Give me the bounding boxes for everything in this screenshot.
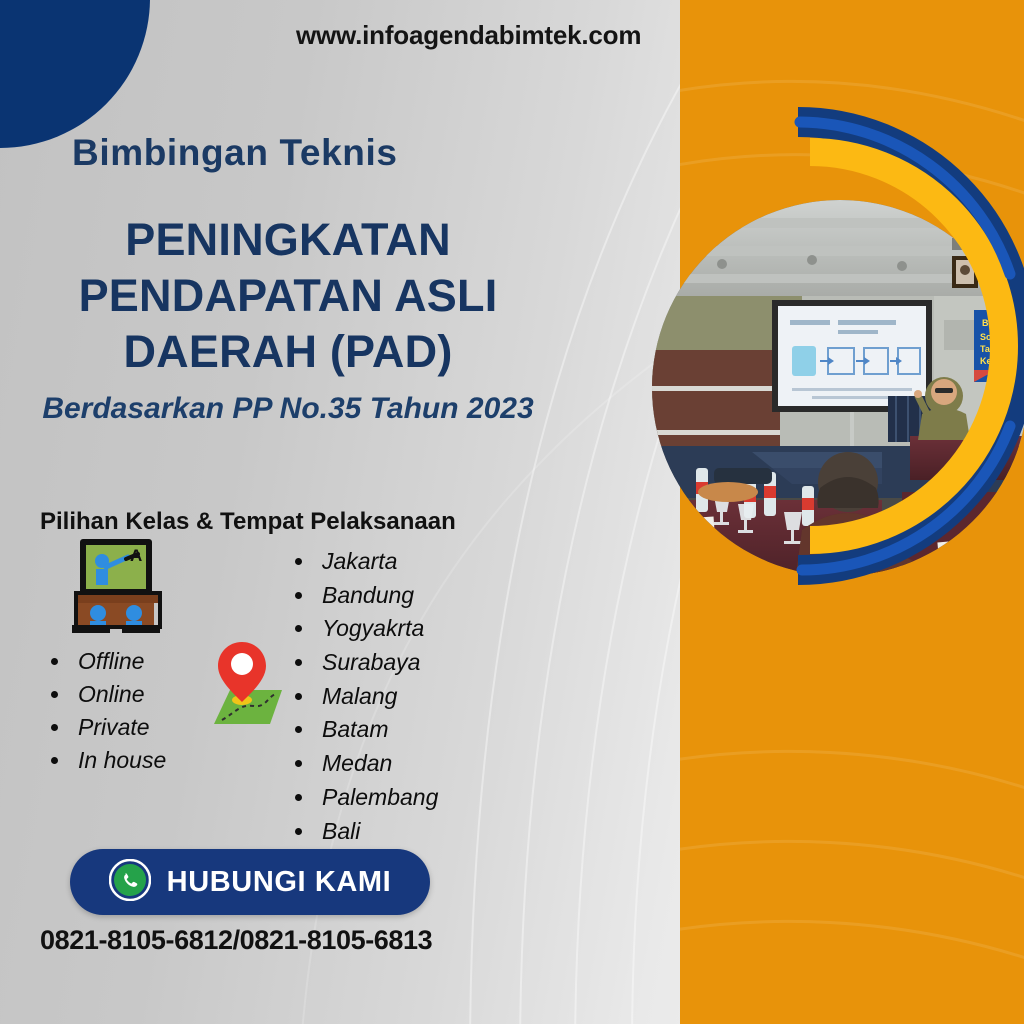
- contact-button[interactable]: HUBUNGI KAMI: [70, 849, 430, 915]
- list-item: Medan: [316, 747, 438, 781]
- list-item: Malang: [316, 680, 438, 714]
- list-item: Online: [72, 678, 166, 711]
- map-pin-icon: [196, 632, 292, 733]
- list-item: Bandung: [316, 579, 438, 613]
- title-line-3: DAERAH (PAD): [0, 324, 576, 380]
- list-item: Yogyakrta: [316, 612, 438, 646]
- title-line-2: PENDAPATAN ASLI: [0, 268, 576, 324]
- whatsapp-icon: [109, 859, 151, 906]
- list-item: Surabaya: [316, 646, 438, 680]
- page-subtitle: Berdasarkan PP No.35 Tahun 2023: [0, 392, 576, 426]
- list-item: Palembang: [316, 781, 438, 815]
- list-item: In house: [72, 744, 166, 777]
- city-list: Jakarta Bandung Yogyakrta Surabaya Malan…: [288, 545, 438, 882]
- photo-frame: BIMB Sosial Tahun Kenaik: [548, 96, 1024, 596]
- list-item: Offline: [72, 645, 166, 678]
- page-title: PENINGKATAN PENDAPATAN ASLI DAERAH (PAD): [0, 212, 576, 379]
- corner-decoration-navy: [0, 0, 150, 148]
- eyebrow-heading: Bimbingan Teknis: [72, 132, 398, 174]
- mode-list: Offline Online Private In house: [44, 645, 166, 777]
- contact-button-label: HUBUNGI KAMI: [167, 866, 392, 899]
- list-item: Private: [72, 711, 166, 744]
- svg-text:A: A: [130, 546, 142, 565]
- options-heading: Pilihan Kelas & Tempat Pelaksanaan: [40, 508, 456, 536]
- poster-canvas: www.infoagendabimtek.com Bimbingan Tekni…: [0, 0, 1024, 1024]
- photo-ring-decorations: [548, 96, 1024, 596]
- title-line-1: PENINGKATAN: [0, 212, 576, 268]
- list-item: Bali: [316, 815, 438, 849]
- list-item: Jakarta: [316, 545, 438, 579]
- classroom-icon: A: [66, 537, 166, 640]
- website-url[interactable]: www.infoagendabimtek.com: [296, 20, 641, 51]
- list-item: Batam: [316, 713, 438, 747]
- phone-numbers[interactable]: 0821-8105-6812/0821-8105-6813: [40, 925, 432, 956]
